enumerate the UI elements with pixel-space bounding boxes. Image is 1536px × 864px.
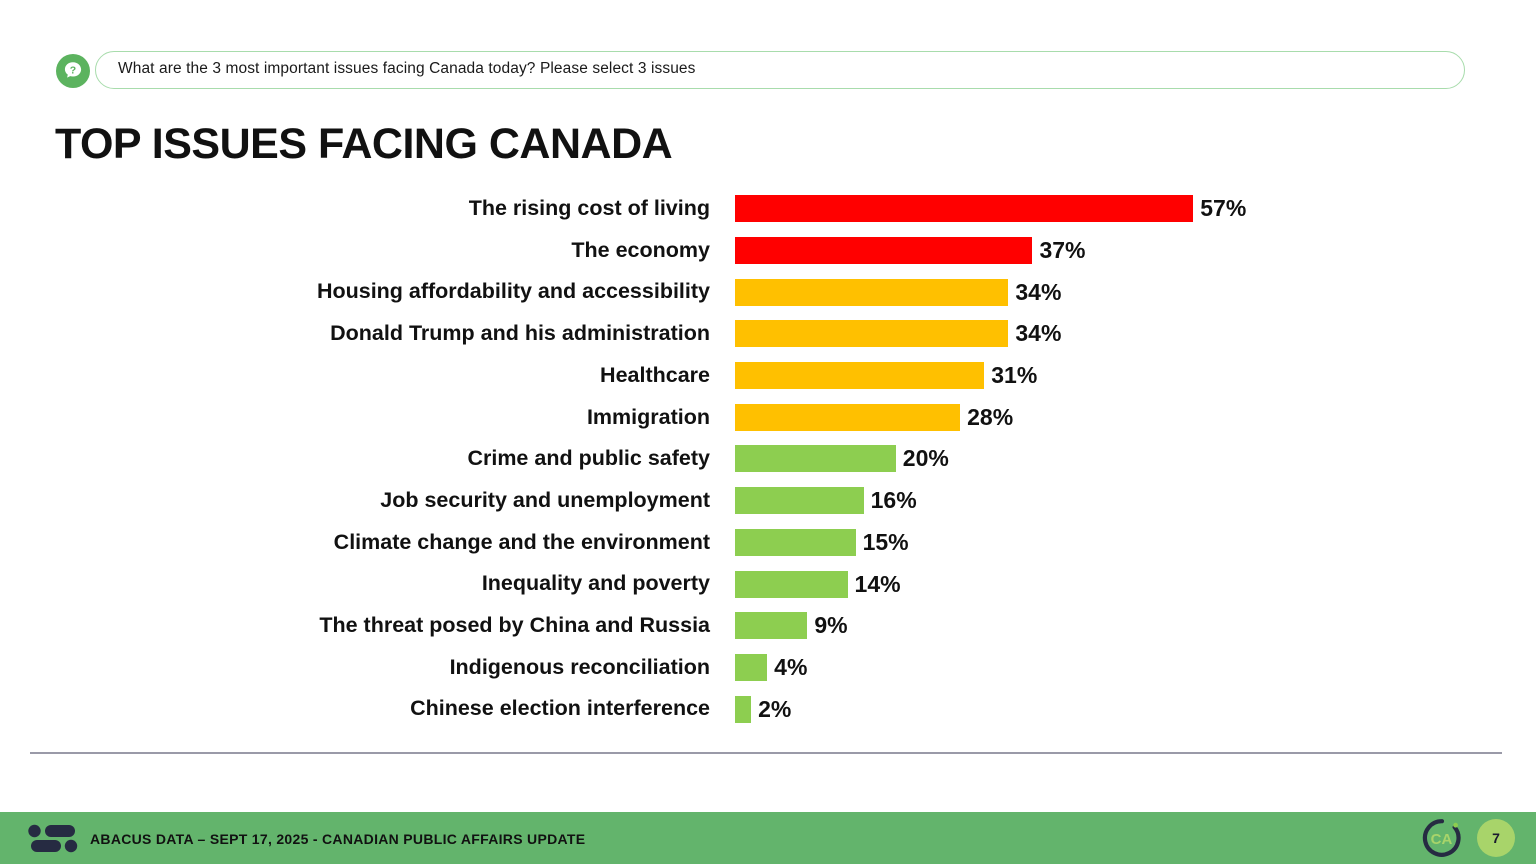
bar — [735, 362, 984, 389]
chart-row: The threat posed by China and Russia9% — [0, 605, 1536, 647]
bar — [735, 195, 1193, 222]
bar-container: 37% — [735, 237, 1536, 264]
bar-container: 2% — [735, 696, 1536, 723]
chart-row: The rising cost of living57% — [0, 188, 1536, 230]
bar-container: 34% — [735, 320, 1536, 347]
bar-value-label: 14% — [855, 573, 901, 596]
bar-category-label: Job security and unemployment — [0, 490, 710, 512]
bar-category-label: Housing affordability and accessibility — [0, 281, 710, 303]
question-text: What are the 3 most important issues fac… — [118, 60, 696, 78]
bar — [735, 487, 864, 514]
bar-value-label: 57% — [1200, 197, 1246, 220]
bar-container: 4% — [735, 654, 1536, 681]
chart-row: Donald Trump and his administration34% — [0, 313, 1536, 355]
chart-row: Climate change and the environment15% — [0, 522, 1536, 564]
bar-container: 28% — [735, 404, 1536, 431]
page-number-badge: 7 — [1477, 819, 1515, 857]
bar-value-label: 31% — [991, 364, 1037, 387]
bar-chart: The rising cost of living57%The economy3… — [0, 188, 1536, 730]
question-speech-bubble-icon: ? — [56, 54, 90, 88]
chart-row: Immigration28% — [0, 396, 1536, 438]
chart-row: Indigenous reconciliation4% — [0, 647, 1536, 689]
bar-value-label: 20% — [903, 447, 949, 470]
bar-category-label: Healthcare — [0, 365, 710, 387]
bar-category-label: Donald Trump and his administration — [0, 323, 710, 345]
bar — [735, 320, 1008, 347]
bar-value-label: 9% — [814, 614, 847, 637]
chart-row: Crime and public safety20% — [0, 438, 1536, 480]
bar-category-label: Crime and public safety — [0, 448, 710, 470]
bar-category-label: The economy — [0, 240, 710, 262]
bar — [735, 571, 848, 598]
chart-row: Housing affordability and accessibility3… — [0, 271, 1536, 313]
chart-row: Healthcare31% — [0, 355, 1536, 397]
bar-value-label: 2% — [758, 698, 791, 721]
bar — [735, 445, 896, 472]
bar-value-label: 34% — [1015, 281, 1061, 304]
bar-category-label: The threat posed by China and Russia — [0, 615, 710, 637]
bar — [735, 404, 960, 431]
bar-container: 9% — [735, 612, 1536, 639]
bar-container: 34% — [735, 279, 1536, 306]
bar — [735, 612, 807, 639]
bar-value-label: 37% — [1039, 239, 1085, 262]
footer-text: ABACUS DATA – SEPT 17, 2025 - CANADIAN P… — [90, 831, 585, 847]
bar — [735, 696, 751, 723]
bar-value-label: 15% — [863, 531, 909, 554]
bar-container: 31% — [735, 362, 1536, 389]
bar-value-label: 34% — [1015, 322, 1061, 345]
chart-row: Job security and unemployment16% — [0, 480, 1536, 522]
bar-category-label: Indigenous reconciliation — [0, 657, 710, 679]
bar-container: 20% — [735, 445, 1536, 472]
page-title: TOP ISSUES FACING CANADA — [55, 120, 672, 169]
bar-value-label: 16% — [871, 489, 917, 512]
bar-value-label: 28% — [967, 406, 1013, 429]
bar-value-label: 4% — [774, 656, 807, 679]
bar-container: 14% — [735, 571, 1536, 598]
svg-text:?: ? — [70, 65, 76, 77]
bar — [735, 237, 1032, 264]
bar-container: 16% — [735, 487, 1536, 514]
bar — [735, 529, 856, 556]
divider — [30, 752, 1502, 754]
abacus-data-logo-icon — [27, 823, 79, 853]
chart-row: Chinese election interference2% — [0, 688, 1536, 730]
bar-container: 57% — [735, 195, 1536, 222]
bar-category-label: Climate change and the environment — [0, 532, 710, 554]
svg-text:CA: CA — [1431, 831, 1453, 848]
bar — [735, 279, 1008, 306]
bar-category-label: Immigration — [0, 407, 710, 429]
bar-category-label: The rising cost of living — [0, 198, 710, 220]
bar-category-label: Chinese election interference — [0, 698, 710, 720]
chart-row: Inequality and poverty14% — [0, 563, 1536, 605]
bar-container: 15% — [735, 529, 1536, 556]
bar-category-label: Inequality and poverty — [0, 573, 710, 595]
ca-logo-icon: CA — [1421, 817, 1463, 859]
chart-row: The economy37% — [0, 230, 1536, 272]
bar — [735, 654, 767, 681]
